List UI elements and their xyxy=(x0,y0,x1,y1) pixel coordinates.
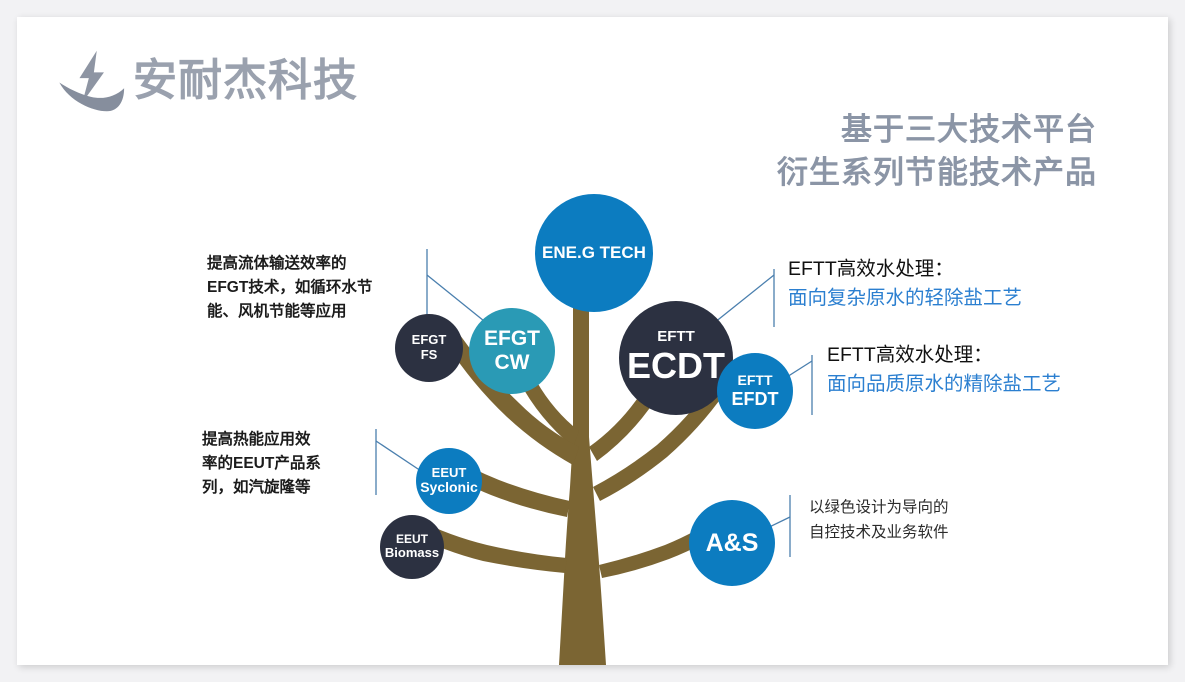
node-a-and-s-label: A&S xyxy=(706,529,759,557)
slide-canvas: 安耐杰科技 基于三大技术平台 衍生系列节能技术产品 xyxy=(17,17,1168,665)
node-ecdt-sublabel: EFTT xyxy=(657,329,695,346)
node-ecdt-label: ECDT xyxy=(627,346,725,386)
node-efgt-fs[interactable]: EFGT FS xyxy=(395,314,463,382)
node-efgt-cw[interactable]: EFGT CW xyxy=(469,308,555,394)
node-efgt-cw-sublabel: EFGT xyxy=(484,327,540,351)
callout-eftt-efdt: EFTT高效水处理： 面向品质原水的精除盐工艺 xyxy=(827,341,1168,400)
callout-eeut: 提高热能应用效 率的EEUT产品系 列，如汽旋隆等 xyxy=(202,428,377,500)
callout-eftt-efdt-detail: 面向品质原水的精除盐工艺 xyxy=(827,370,1168,399)
callout-eeut-line-1: 提高热能应用效 xyxy=(202,428,377,452)
callout-eftt-ecdt-detail: 面向复杂原水的轻除盐工艺 xyxy=(788,284,1148,313)
callout-efgt-line-3: 能、风机节能等应用 xyxy=(207,300,407,324)
technology-tree-diagram: ENE.G TECH EFGT FS EFGT CW EFTT ECDT EFT… xyxy=(17,17,1168,665)
callout-efgt-line-2: EFGT技术，如循环水节 xyxy=(207,276,407,300)
callout-a-and-s-line-2: 自控技术及业务软件 xyxy=(809,521,1029,546)
callout-eftt-efdt-title: EFTT高效水处理： xyxy=(827,341,1168,370)
node-eneg-tech[interactable]: ENE.G TECH xyxy=(535,194,653,312)
callout-efgt: 提高流体输送效率的 EFGT技术，如循环水节 能、风机节能等应用 xyxy=(207,252,407,324)
node-eeut-biomass[interactable]: EEUT Biomass xyxy=(380,515,444,579)
node-ecdt[interactable]: EFTT ECDT xyxy=(619,301,733,415)
callout-eeut-line-3: 列，如汽旋隆等 xyxy=(202,476,377,500)
callout-eeut-line-2: 率的EEUT产品系 xyxy=(202,452,377,476)
node-eeut-syclonic[interactable]: EEUT Syclonic xyxy=(416,448,482,514)
node-eeut-syclonic-sublabel: EEUT xyxy=(432,466,467,481)
node-eneg-tech-label: ENE.G TECH xyxy=(542,243,646,262)
node-efdt-sublabel: EFTT xyxy=(738,373,773,389)
callout-eftt-ecdt-title: EFTT高效水处理： xyxy=(788,255,1148,284)
node-eeut-biomass-label: Biomass xyxy=(385,546,439,561)
node-efdt-label: EFDT xyxy=(732,389,779,409)
node-efgt-fs-label: FS xyxy=(421,348,438,363)
node-eeut-biomass-sublabel: EEUT xyxy=(396,533,428,546)
callout-a-and-s: 以绿色设计为导向的 自控技术及业务软件 xyxy=(809,496,1029,546)
node-efgt-cw-label: CW xyxy=(495,351,530,375)
callout-a-and-s-line-1: 以绿色设计为导向的 xyxy=(809,496,1029,521)
node-a-and-s[interactable]: A&S xyxy=(689,500,775,586)
node-eeut-syclonic-label: Syclonic xyxy=(420,480,478,496)
node-efgt-fs-sublabel: EFGT xyxy=(412,333,447,348)
callout-eftt-ecdt: EFTT高效水处理： 面向复杂原水的轻除盐工艺 xyxy=(788,255,1148,314)
node-efdt[interactable]: EFTT EFDT xyxy=(717,353,793,429)
callout-efgt-line-1: 提高流体输送效率的 xyxy=(207,252,407,276)
